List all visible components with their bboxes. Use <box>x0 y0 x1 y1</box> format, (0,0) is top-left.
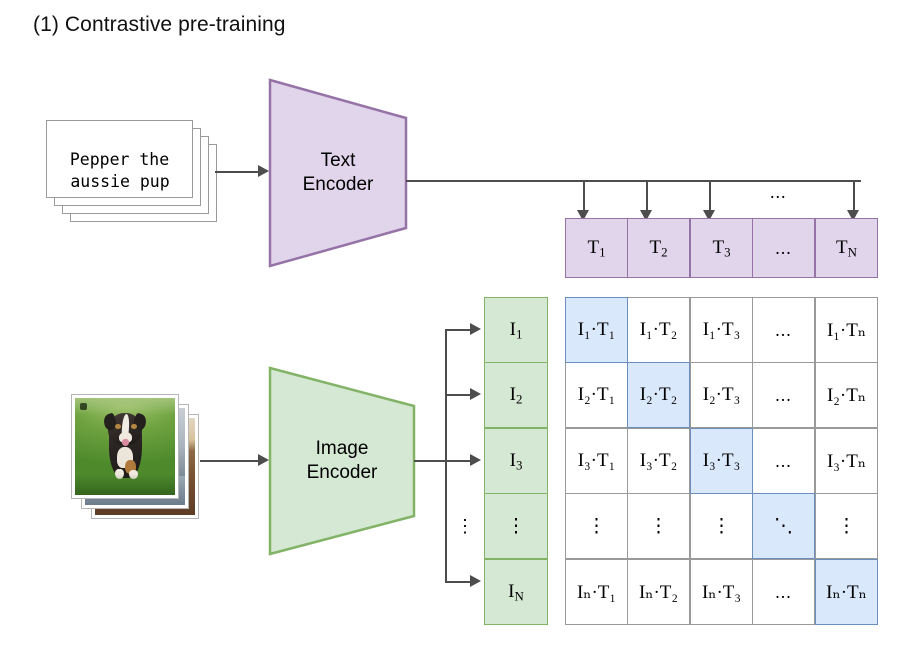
ellipsis-label: ... <box>775 320 792 341</box>
text-embedding-t3[interactable]: T3 <box>690 218 753 278</box>
cell-label: I₃·Tₙ <box>827 450 866 473</box>
cell-label: T2 <box>649 237 667 259</box>
diagram-canvas: (1) Contrastive pre-training Pepper the … <box>0 0 906 654</box>
text-embedding-tn[interactable]: TN <box>815 218 878 278</box>
matrix-cell-1-4: ... <box>752 297 815 363</box>
wire-image-to-encoder <box>200 460 265 462</box>
cell-label: I₁·T₁ <box>578 319 616 341</box>
ellipsis-label: ⋮ <box>587 517 606 536</box>
page-title: (1) Contrastive pre-training <box>33 13 286 37</box>
ellipsis-label: ... <box>775 451 792 472</box>
matrix-cell-1-2[interactable]: I₁·T₂ <box>627 297 690 363</box>
cell-label: I3 <box>510 450 523 472</box>
matrix-cell-3-2[interactable]: I₃·T₂ <box>627 428 690 494</box>
text-embedding-t1[interactable]: T1 <box>565 218 628 278</box>
matrix-cell-3-1[interactable]: I₃·T₁ <box>565 428 628 494</box>
cell-label: I₃·T₂ <box>640 450 678 472</box>
cell-label: I₃·T₃ <box>703 450 741 472</box>
ellipsis-label: ... <box>775 238 792 259</box>
arrowhead-i3 <box>470 454 481 466</box>
matrix-cell-2-5[interactable]: I₂·Tₙ <box>815 362 878 428</box>
ellipsis-label: ... <box>775 582 792 603</box>
dog-brow-right <box>131 424 137 429</box>
image-embedding-i2[interactable]: I2 <box>484 362 548 428</box>
matrix-cell-4-3: ⋮ <box>690 493 753 559</box>
image-card-front <box>72 395 178 498</box>
matrix-cell-3-3[interactable]: I₃·T₃ <box>690 428 753 494</box>
matrix-cell-4-4: ⋱ <box>752 493 815 559</box>
matrix-cell-5-4: ... <box>752 559 815 625</box>
text-card-line-2: aussie pup <box>56 170 184 193</box>
cell-label: I₂·T₃ <box>703 384 741 406</box>
cell-label: Iₙ·Tₙ <box>826 581 867 604</box>
cell-label: I₃·T₁ <box>578 450 616 472</box>
cell-label: I2 <box>510 384 523 406</box>
matrix-cell-4-2: ⋮ <box>627 493 690 559</box>
wire-image-encoder-bus <box>445 329 447 582</box>
ellipsis-label: ... <box>775 385 792 406</box>
matrix-cell-2-3[interactable]: I₂·T₃ <box>690 362 753 428</box>
text-card-line-1: Pepper the <box>70 148 169 171</box>
matrix-cell-3-4: ... <box>752 428 815 494</box>
text-bus-ellipsis: ... <box>770 182 787 203</box>
cell-label: TN <box>836 237 857 259</box>
matrix-cell-2-2[interactable]: I₂·T₂ <box>627 362 690 428</box>
matrix-cell-5-5[interactable]: Iₙ·Tₙ <box>815 559 878 625</box>
ellipsis-label: ⋮ <box>837 517 856 536</box>
dog-brow-left <box>115 424 121 429</box>
arrowhead-i1 <box>470 323 481 335</box>
image-embedding-i3[interactable]: I3 <box>484 428 548 494</box>
arrowhead-i2 <box>470 388 481 400</box>
ellipsis-label: ⋮ <box>649 517 668 536</box>
cell-label: T1 <box>587 237 605 259</box>
dog-tongue <box>122 439 129 446</box>
matrix-cell-4-5: ⋮ <box>815 493 878 559</box>
cell-label: I₁·T₂ <box>640 319 678 341</box>
cell-label: I₂·T₁ <box>578 384 616 406</box>
matrix-cell-2-4: ... <box>752 362 815 428</box>
image-embedding-in[interactable]: IN <box>484 559 548 625</box>
matrix-cell-1-5[interactable]: I₁·Tₙ <box>815 297 878 363</box>
matrix-cell-3-5[interactable]: I₃·Tₙ <box>815 428 878 494</box>
cell-label: I₁·Tₙ <box>827 319 866 342</box>
ellipsis-label: ⋮ <box>507 517 526 536</box>
matrix-cell-4-1: ⋮ <box>565 493 628 559</box>
cell-label: I1 <box>510 319 523 341</box>
matrix-cell-5-1[interactable]: Iₙ·T₁ <box>565 559 628 625</box>
cell-label: T3 <box>712 237 730 259</box>
image-encoder-label: Image Encoder <box>307 437 378 485</box>
ellipsis-label: ⋱ <box>774 517 793 536</box>
matrix-cell-1-3[interactable]: I₁·T₃ <box>690 297 753 363</box>
matrix-cell-5-3[interactable]: Iₙ·T₃ <box>690 559 753 625</box>
wire-text-encoder-bus <box>406 180 861 182</box>
text-embedding-ellipsis: ... <box>752 218 815 278</box>
image-embedding-i1[interactable]: I1 <box>484 297 548 363</box>
cell-label: Iₙ·T₁ <box>577 581 616 604</box>
matrix-cell-2-1[interactable]: I₂·T₁ <box>565 362 628 428</box>
cell-label: Iₙ·T₃ <box>702 581 741 604</box>
ellipsis-label: ⋮ <box>712 517 731 536</box>
photo-corner-mark <box>80 403 87 410</box>
matrix-cell-5-2[interactable]: Iₙ·T₂ <box>627 559 690 625</box>
arrowhead-in <box>470 575 481 587</box>
cell-label: I₂·T₂ <box>640 384 678 406</box>
image-encoder[interactable]: Image Encoder <box>268 366 416 556</box>
text-embedding-t2[interactable]: T2 <box>627 218 690 278</box>
cell-label: I₁·T₃ <box>703 319 741 341</box>
matrix-cell-1-1[interactable]: I₁·T₁ <box>565 297 628 363</box>
cell-label: I₂·Tₙ <box>827 384 866 407</box>
cell-label: Iₙ·T₂ <box>639 581 678 604</box>
text-encoder-label: Text Encoder <box>303 149 374 197</box>
grass-shadow <box>75 474 175 495</box>
image-embedding-ellipsis: ⋮ <box>484 493 548 559</box>
dog-photo-content <box>75 398 175 495</box>
text-encoder[interactable]: Text Encoder <box>268 78 408 268</box>
image-bus-ellipsis: ⋮ <box>456 516 475 537</box>
cell-label: IN <box>508 581 524 603</box>
